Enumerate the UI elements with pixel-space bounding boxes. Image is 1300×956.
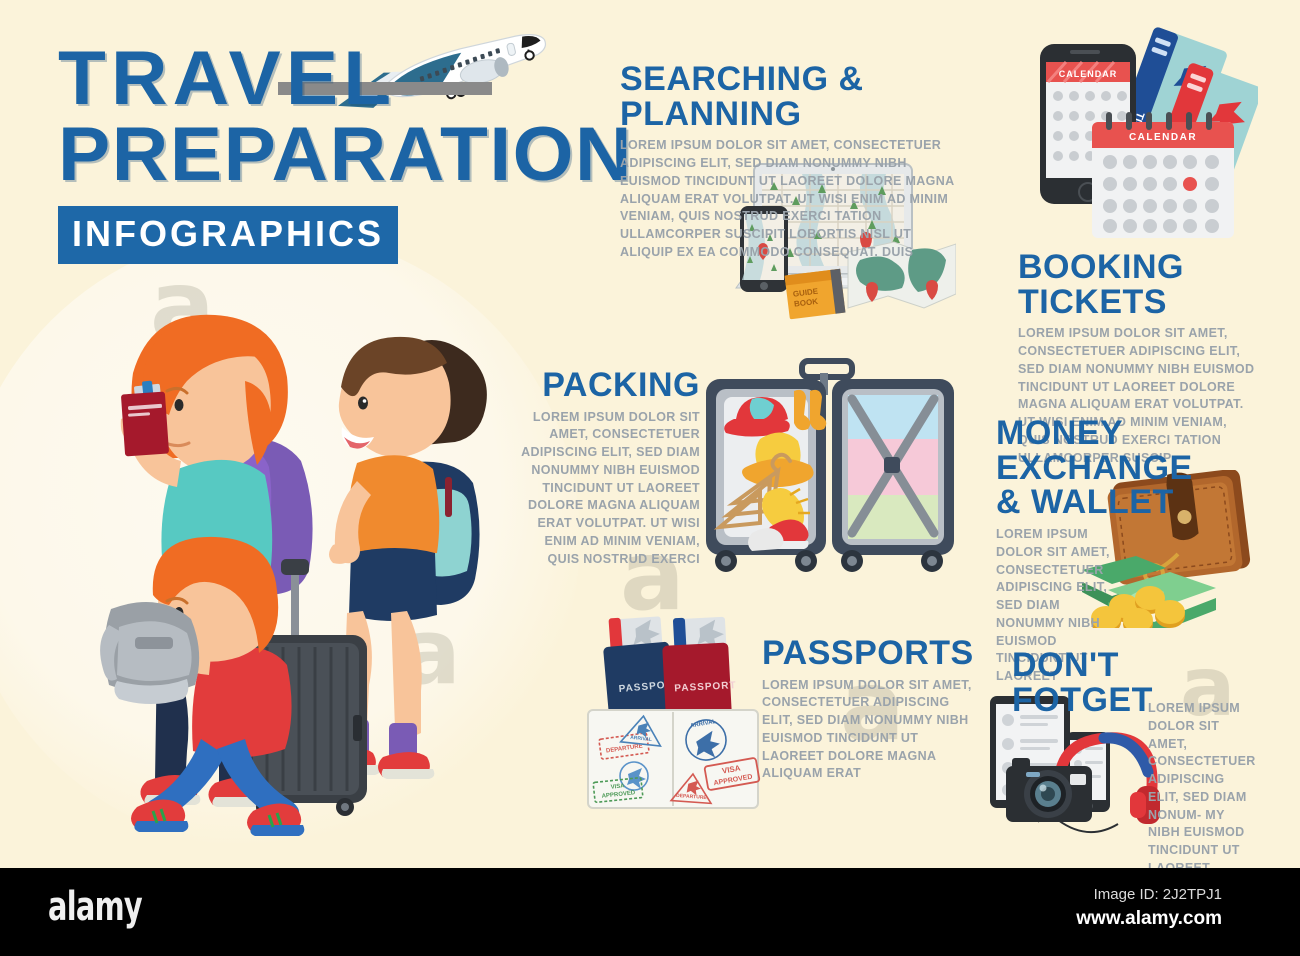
section-body: LOREM IPSUM DOLOR SIT AMET, CONSECTETUER…: [620, 137, 960, 261]
section-heading: BOOKING TICKETS: [1018, 250, 1256, 319]
section-heading-line-2: & WALLET: [996, 485, 1264, 520]
screenshot-root: a a a a a a: [0, 0, 1300, 956]
section-heading-line-1: MONEY EXCHANGE: [996, 416, 1264, 485]
passports-stamps-illustration: PASSPORT PASSPORT DEPARTURE ARRIVAL: [584, 614, 764, 814]
section-dont-forget-body-wrap: LOREM IPSUM DOLOR SIT AMET, CONSECTETUER…: [1148, 700, 1258, 868]
section-packing: PACKING LOREM IPSUM DOLOR SIT AMET, CONS…: [510, 368, 700, 568]
svg-text:CALENDAR: CALENDAR: [1129, 132, 1197, 143]
infographic-poster: a a a a a a: [0, 0, 1300, 868]
title-line-2: PREPARATION: [58, 120, 594, 190]
page-title: TRAVEL PREPARATION INFOGRAPHICS: [58, 44, 578, 264]
image-id-label: Image ID: 2J2TPJ1: [1094, 886, 1222, 903]
section-searching-planning: SEARCHING & PLANNING LOREM IPSUM DOLOR S…: [620, 62, 960, 262]
section-body: LOREM IPSUM DOLOR SIT AMET, CONSECTETUER…: [1148, 700, 1258, 868]
section-heading: PACKING: [510, 368, 700, 403]
gray-backpack: [100, 602, 199, 704]
section-body: LOREM IPSUM DOLOR SIT AMET, CONSECTETUER…: [762, 677, 972, 784]
section-heading: PASSPORTS: [762, 636, 972, 671]
passport-in-hand: [121, 381, 169, 457]
title-line-1: TRAVEL: [58, 44, 594, 114]
alamy-domain-label: www.alamy.com: [1076, 908, 1222, 930]
section-heading: SEARCHING & PLANNING: [620, 62, 960, 131]
open-suitcase-illustration: [702, 355, 958, 593]
svg-text:CALENDAR: CALENDAR: [1059, 69, 1118, 79]
section-passports: PASSPORTS LOREM IPSUM DOLOR SIT AMET, CO…: [762, 636, 972, 783]
alamy-logo: alamy: [48, 884, 142, 930]
section-body: LOREM IPSUM DOLOR SIT AMET, CONSECTETUER…: [510, 409, 700, 569]
infographics-badge: INFOGRAPHICS: [58, 206, 398, 264]
boy-figure: [100, 537, 304, 836]
calendar-phone-tickets-illustration: TICKET TICKET CALENDAR: [1022, 26, 1258, 244]
traveling-family-illustration: [95, 295, 515, 840]
